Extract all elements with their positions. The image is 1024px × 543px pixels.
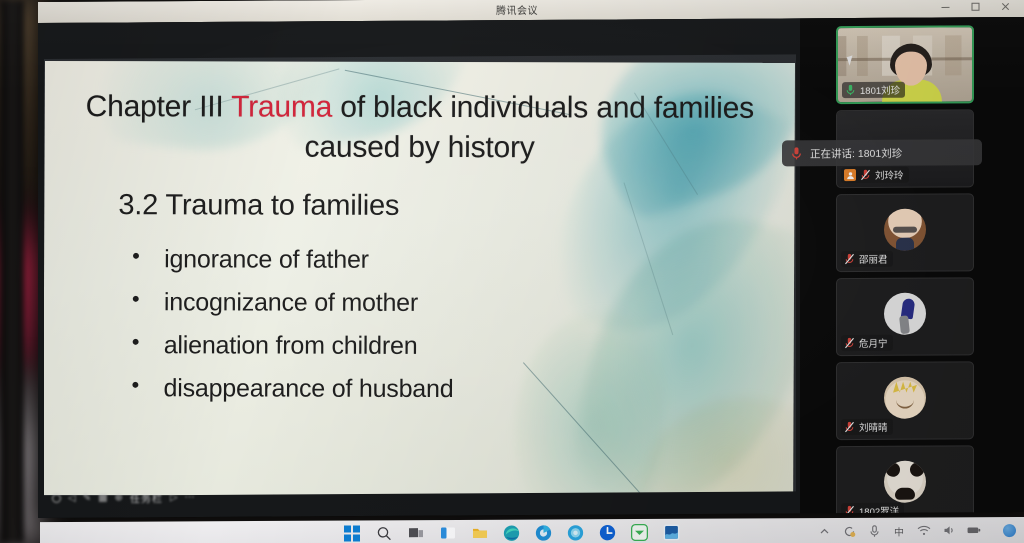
slide-text-content: Chapter III Trauma of black individuals … [44,61,795,496]
participant-tile[interactable]: 刘晴晴 [836,361,974,440]
pointer-icon[interactable] [52,493,61,502]
more-options-icon[interactable]: ⋯ [185,492,195,503]
next-slide-icon[interactable]: ▷ [170,492,178,503]
participant-label: 刘玲玲 [841,167,909,183]
system-tray: 中 [817,523,1016,538]
participant-name: 1802罗洋 [859,504,899,518]
taskbar-apps [342,522,681,543]
window-body: Chapter III Trauma of black individuals … [38,17,1024,518]
maximize-button[interactable] [960,0,990,17]
slide-subtitle: 3.2 Trauma to families [118,189,768,224]
slide-title: Chapter III Trauma of black individuals … [85,87,755,169]
taskbar-label[interactable]: 任务栏 [130,490,163,505]
file-explorer-icon[interactable] [438,523,457,542]
zoom-icon[interactable]: ⊕ [115,492,123,503]
battery-icon[interactable] [967,523,981,537]
participant-tile[interactable]: 邵丽君 [836,193,974,272]
ime-indicator[interactable]: 中 [892,524,906,538]
wifi-icon[interactable] [917,523,931,537]
edge-icon[interactable] [502,523,521,542]
microphone-muted-icon [844,337,855,349]
microphone-muted-icon [844,421,855,433]
close-button[interactable] [990,0,1020,17]
microphone-unmuted-icon [845,84,856,96]
notification-indicator[interactable] [1003,524,1016,537]
wechat-icon[interactable] [630,522,649,541]
pen-icon[interactable]: ✎ [83,492,91,503]
powerpoint-icon[interactable] [662,522,681,541]
monitor-bezel-left [0,0,24,543]
sync-icon[interactable] [842,524,856,538]
browser-icon[interactable] [534,523,553,542]
avatar [884,293,926,335]
microphone-muted-icon [844,253,855,265]
list-item: ignorance of father [126,238,768,283]
windows-taskbar[interactable]: 中 [40,517,1024,543]
search-icon[interactable] [374,524,393,543]
list-item: incognizance of mother [126,281,768,326]
participant-name: 邵丽君 [859,252,888,266]
slide-title-highlight: Trauma [231,90,332,123]
photographed-monitor-scene: 腾讯会议 [0,0,1024,543]
participant-label: 危月宁 [841,335,893,351]
tencent-meeting-icon[interactable] [598,523,617,542]
slideshow-control-bar[interactable]: ◁ ✎ ▦ ⊕ 任务栏 ▷ ⋯ [44,487,203,508]
volume-icon[interactable] [942,523,956,537]
participant-tile[interactable]: 危月宁 [836,277,974,356]
participant-label: 1801刘珍 [842,82,905,98]
microphone-muted-icon [844,505,855,517]
avatar [884,461,926,503]
window-title: 腾讯会议 [496,2,538,17]
qq-browser-icon[interactable] [566,523,585,542]
participant-tile[interactable]: 1801刘珍 [836,25,974,104]
participant-tile[interactable]: 1802罗洋 [836,445,974,518]
avatar [884,377,926,419]
microphone-muted-icon [860,169,871,181]
slide-thumbnails-icon[interactable]: ▦ [98,492,107,503]
participant-name: 刘晴晴 [859,420,888,434]
list-item: disappearance of husband [125,367,767,412]
host-badge-icon [844,169,856,181]
microphone-icon[interactable] [867,524,881,538]
slide-title-prefix: Chapter III [86,90,232,123]
window-controls [930,0,1020,18]
avatar [884,209,926,251]
folder-icon[interactable] [470,523,489,542]
powerpoint-slide: Chapter III Trauma of black individuals … [44,61,795,496]
minimize-button[interactable] [930,0,960,18]
participant-label: 邵丽君 [841,251,893,267]
chevron-up-icon[interactable] [817,524,831,538]
slide-title-suffix: of black individuals and families caused… [305,91,754,164]
screen-share-region[interactable]: Chapter III Trauma of black individuals … [38,18,800,518]
speaking-toast-text: 正在讲话: 1801刘珍 [810,145,902,161]
task-view-icon[interactable] [406,524,425,543]
slide-bullet-list: ignorance of father incognizance of moth… [125,238,768,412]
list-item: alienation from children [126,324,768,369]
prev-slide-icon[interactable]: ◁ [68,492,76,503]
speaking-toast: 正在讲话: 1801刘珍 [782,139,982,166]
participant-sidebar[interactable]: 1801刘珍 [800,17,1024,513]
tencent-meeting-window: 腾讯会议 [38,0,1024,518]
windows-start-icon[interactable] [342,524,361,543]
participant-name: 危月宁 [859,336,888,350]
microphone-speaking-icon [790,146,803,160]
participant-name: 1801刘珍 [860,83,900,97]
participant-name: 刘玲玲 [875,168,904,182]
participant-label: 1802罗洋 [841,503,904,518]
participant-label: 刘晴晴 [841,419,893,435]
shared-slide-frame: Chapter III Trauma of black individuals … [44,54,796,496]
